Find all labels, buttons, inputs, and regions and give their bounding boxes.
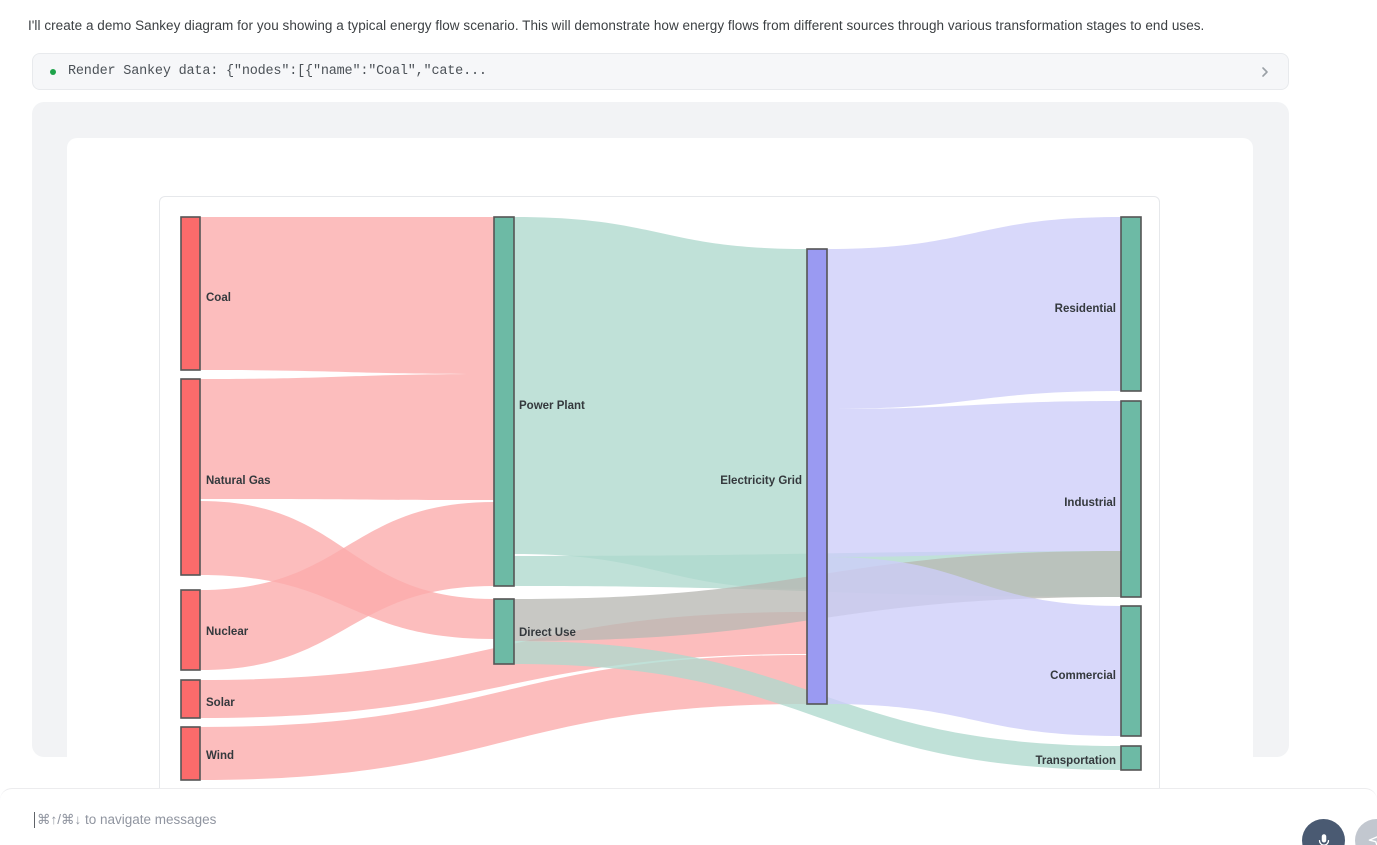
- sankey-link[interactable]: [827, 401, 1121, 557]
- chat-app-window: I'll create a demo Sankey diagram for yo…: [0, 0, 1377, 845]
- message-composer[interactable]: ⌘↑/⌘↓ to navigate messages: [0, 788, 1377, 845]
- tool-call-label: Render Sankey data: {"nodes":[{"name":"C…: [68, 64, 487, 79]
- sankey-node-nuclear[interactable]: [181, 590, 200, 670]
- sankey-node-natural_gas[interactable]: [181, 379, 200, 575]
- sankey-links: [200, 217, 1121, 780]
- sankey-node-label-commercial: Commercial: [1050, 670, 1116, 682]
- sankey-node-wind[interactable]: [181, 727, 200, 780]
- tool-call-row[interactable]: Render Sankey data: {"nodes":[{"name":"C…: [32, 53, 1289, 90]
- sankey-node-label-natural_gas: Natural Gas: [206, 475, 271, 487]
- sankey-node-electricity_grid[interactable]: [807, 249, 827, 704]
- sankey-node-transportation[interactable]: [1121, 746, 1141, 770]
- sankey-node-label-direct_use: Direct Use: [519, 627, 576, 639]
- chevron-right-icon[interactable]: [1258, 65, 1272, 79]
- conversation-scroll-area[interactable]: I'll create a demo Sankey diagram for yo…: [0, 0, 1377, 788]
- sankey-node-label-solar: Solar: [206, 697, 235, 709]
- assistant-message-text: I'll create a demo Sankey diagram for yo…: [28, 16, 1348, 36]
- sankey-node-direct_use[interactable]: [494, 599, 514, 664]
- sankey-node-label-nuclear: Nuclear: [206, 626, 249, 638]
- sankey-node-label-industrial: Industrial: [1064, 497, 1116, 509]
- sankey-diagram[interactable]: CoalNatural GasNuclearSolarWindPower Pla…: [160, 197, 1160, 788]
- composer-input-area[interactable]: ⌘↑/⌘↓ to navigate messages: [20, 789, 1377, 845]
- artifact-container: CoalNatural GasNuclearSolarWindPower Pla…: [32, 102, 1289, 757]
- sankey-node-commercial[interactable]: [1121, 606, 1141, 736]
- sankey-node-coal[interactable]: [181, 217, 200, 370]
- sankey-node-label-transportation: Transportation: [1035, 755, 1116, 767]
- sankey-node-residential[interactable]: [1121, 217, 1141, 391]
- sankey-chart-frame[interactable]: CoalNatural GasNuclearSolarWindPower Pla…: [159, 196, 1160, 788]
- composer-placeholder: ⌘↑/⌘↓ to navigate messages: [37, 812, 216, 828]
- status-dot-green-icon: [50, 69, 56, 75]
- sankey-node-industrial[interactable]: [1121, 401, 1141, 597]
- sankey-link[interactable]: [200, 217, 494, 374]
- text-cursor: [34, 812, 35, 828]
- microphone-icon: [1315, 832, 1333, 845]
- artifact-card: CoalNatural GasNuclearSolarWindPower Pla…: [67, 138, 1253, 788]
- sankey-node-label-power_plant: Power Plant: [519, 400, 585, 412]
- sankey-node-solar[interactable]: [181, 680, 200, 718]
- sankey-node-label-electricity_grid: Electricity Grid: [720, 475, 802, 487]
- send-paper-plane-icon: [1367, 831, 1377, 845]
- sankey-node-label-coal: Coal: [206, 292, 231, 304]
- sankey-node-power_plant[interactable]: [494, 217, 514, 586]
- sankey-node-label-residential: Residential: [1055, 303, 1116, 315]
- sankey-node-label-wind: Wind: [206, 750, 234, 762]
